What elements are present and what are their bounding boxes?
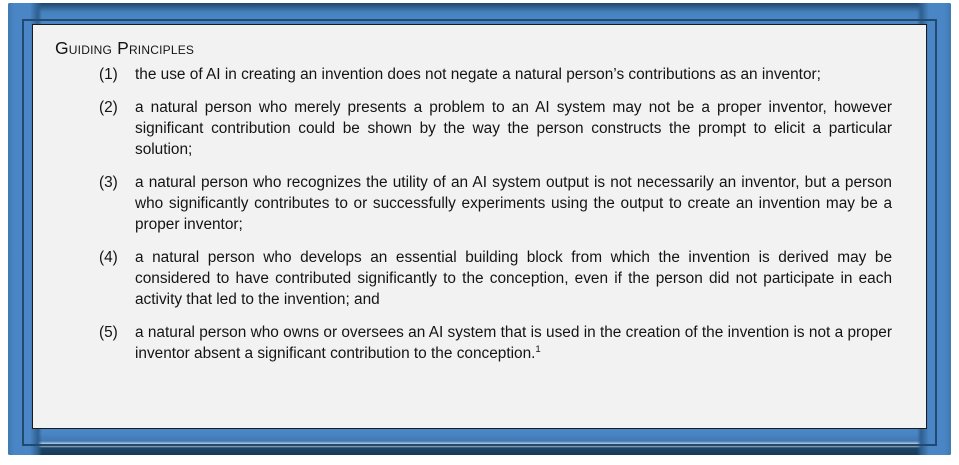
list-item-number: (5) — [99, 322, 135, 343]
list-item: (3)a natural person who recognizes the u… — [55, 172, 904, 235]
principles-list: (1)the use of AI in creating an inventio… — [55, 64, 904, 364]
list-item-number: (1) — [99, 64, 135, 85]
list-item-text: a natural person who recognizes the util… — [135, 172, 892, 235]
list-item: (5)a natural person who owns or oversees… — [55, 322, 904, 364]
page-title: Guiding Principles — [55, 39, 904, 58]
list-item: (1)the use of AI in creating an inventio… — [55, 64, 904, 85]
list-item-text: a natural person who owns or oversees an… — [135, 322, 892, 364]
list-item-number: (4) — [99, 247, 135, 268]
list-item-text: a natural person who merely presents a p… — [135, 97, 892, 160]
list-item-number: (3) — [99, 172, 135, 193]
list-item: (4)a natural person who develops an esse… — [55, 247, 904, 310]
list-item: (2)a natural person who merely presents … — [55, 97, 904, 160]
slide-canvas: Guiding Principles (1)the use of AI in c… — [0, 0, 959, 465]
content-panel: Guiding Principles (1)the use of AI in c… — [32, 24, 927, 429]
list-item-text: the use of AI in creating an invention d… — [135, 64, 892, 85]
list-item-text: a natural person who develops an essenti… — [135, 247, 892, 310]
footnote-reference[interactable]: 1 — [535, 344, 540, 355]
list-item-number: (2) — [99, 97, 135, 118]
